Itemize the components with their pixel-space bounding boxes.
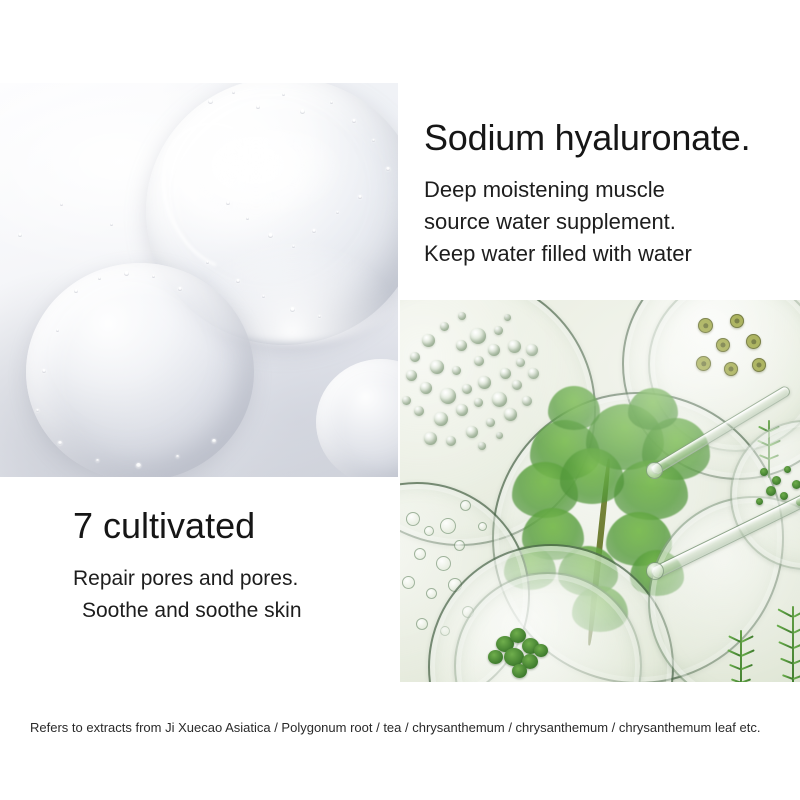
description-line-1: Deep moistening muscle [424,174,794,206]
description-line-3: Keep water filled with water [424,238,794,270]
heading-7-cultivated: 7 cultivated [73,503,403,549]
description-line-2: source water supplement. [424,206,794,238]
heading-sodium-hyaluronate: Sodium hyaluronate. [424,116,794,160]
pipette-upper-tip [646,462,663,479]
cultivated-line-2: Soothe and soothe skin [73,595,403,627]
sodium-hyaluronate-block: Sodium hyaluronate. Deep moistening musc… [424,116,794,270]
cultivated-block: 7 cultivated Repair pores and pores. Soo… [73,503,403,627]
petri-dish-photo [400,300,800,682]
marketing-image: Sodium hyaluronate. Deep moistening musc… [0,0,800,800]
water-bubbles-photo [0,83,398,477]
water-droplets [0,83,398,477]
cultivated-line-1: Repair pores and pores. [73,563,403,595]
cultivated-description: Repair pores and pores. Soothe and sooth… [73,563,403,627]
fern-sprig-1 [726,630,756,682]
glass-rod-tip [646,562,664,580]
fern-sprig-2 [776,606,800,682]
ingredient-caption: Refers to extracts from Ji Xuecao Asiati… [30,719,782,737]
sodium-hyaluronate-description: Deep moistening muscle source water supp… [424,174,794,270]
